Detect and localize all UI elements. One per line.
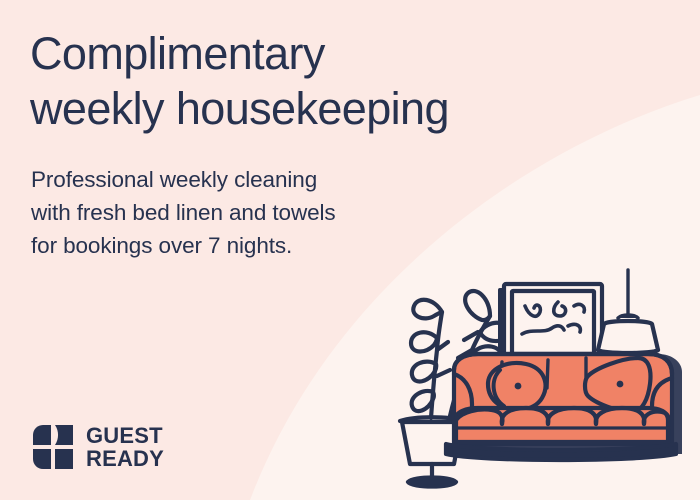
- guestready-quadrant-mark-icon: [31, 423, 75, 471]
- banner-description: Professional weekly cleaning with fresh …: [31, 163, 461, 262]
- sofa-icon: [446, 354, 682, 460]
- living-room-illustration: [390, 258, 700, 500]
- logo-line-2: READY: [86, 447, 164, 470]
- logo-line-1: GUEST: [86, 424, 164, 447]
- promo-banner: Complimentary weekly housekeeping Profes…: [0, 0, 700, 500]
- banner-content: Complimentary weekly housekeeping Profes…: [0, 0, 700, 500]
- logo-wordmark: GUEST READY: [86, 424, 164, 470]
- brand-logo: GUEST READY: [31, 423, 164, 471]
- page-title: Complimentary weekly housekeeping: [30, 26, 630, 136]
